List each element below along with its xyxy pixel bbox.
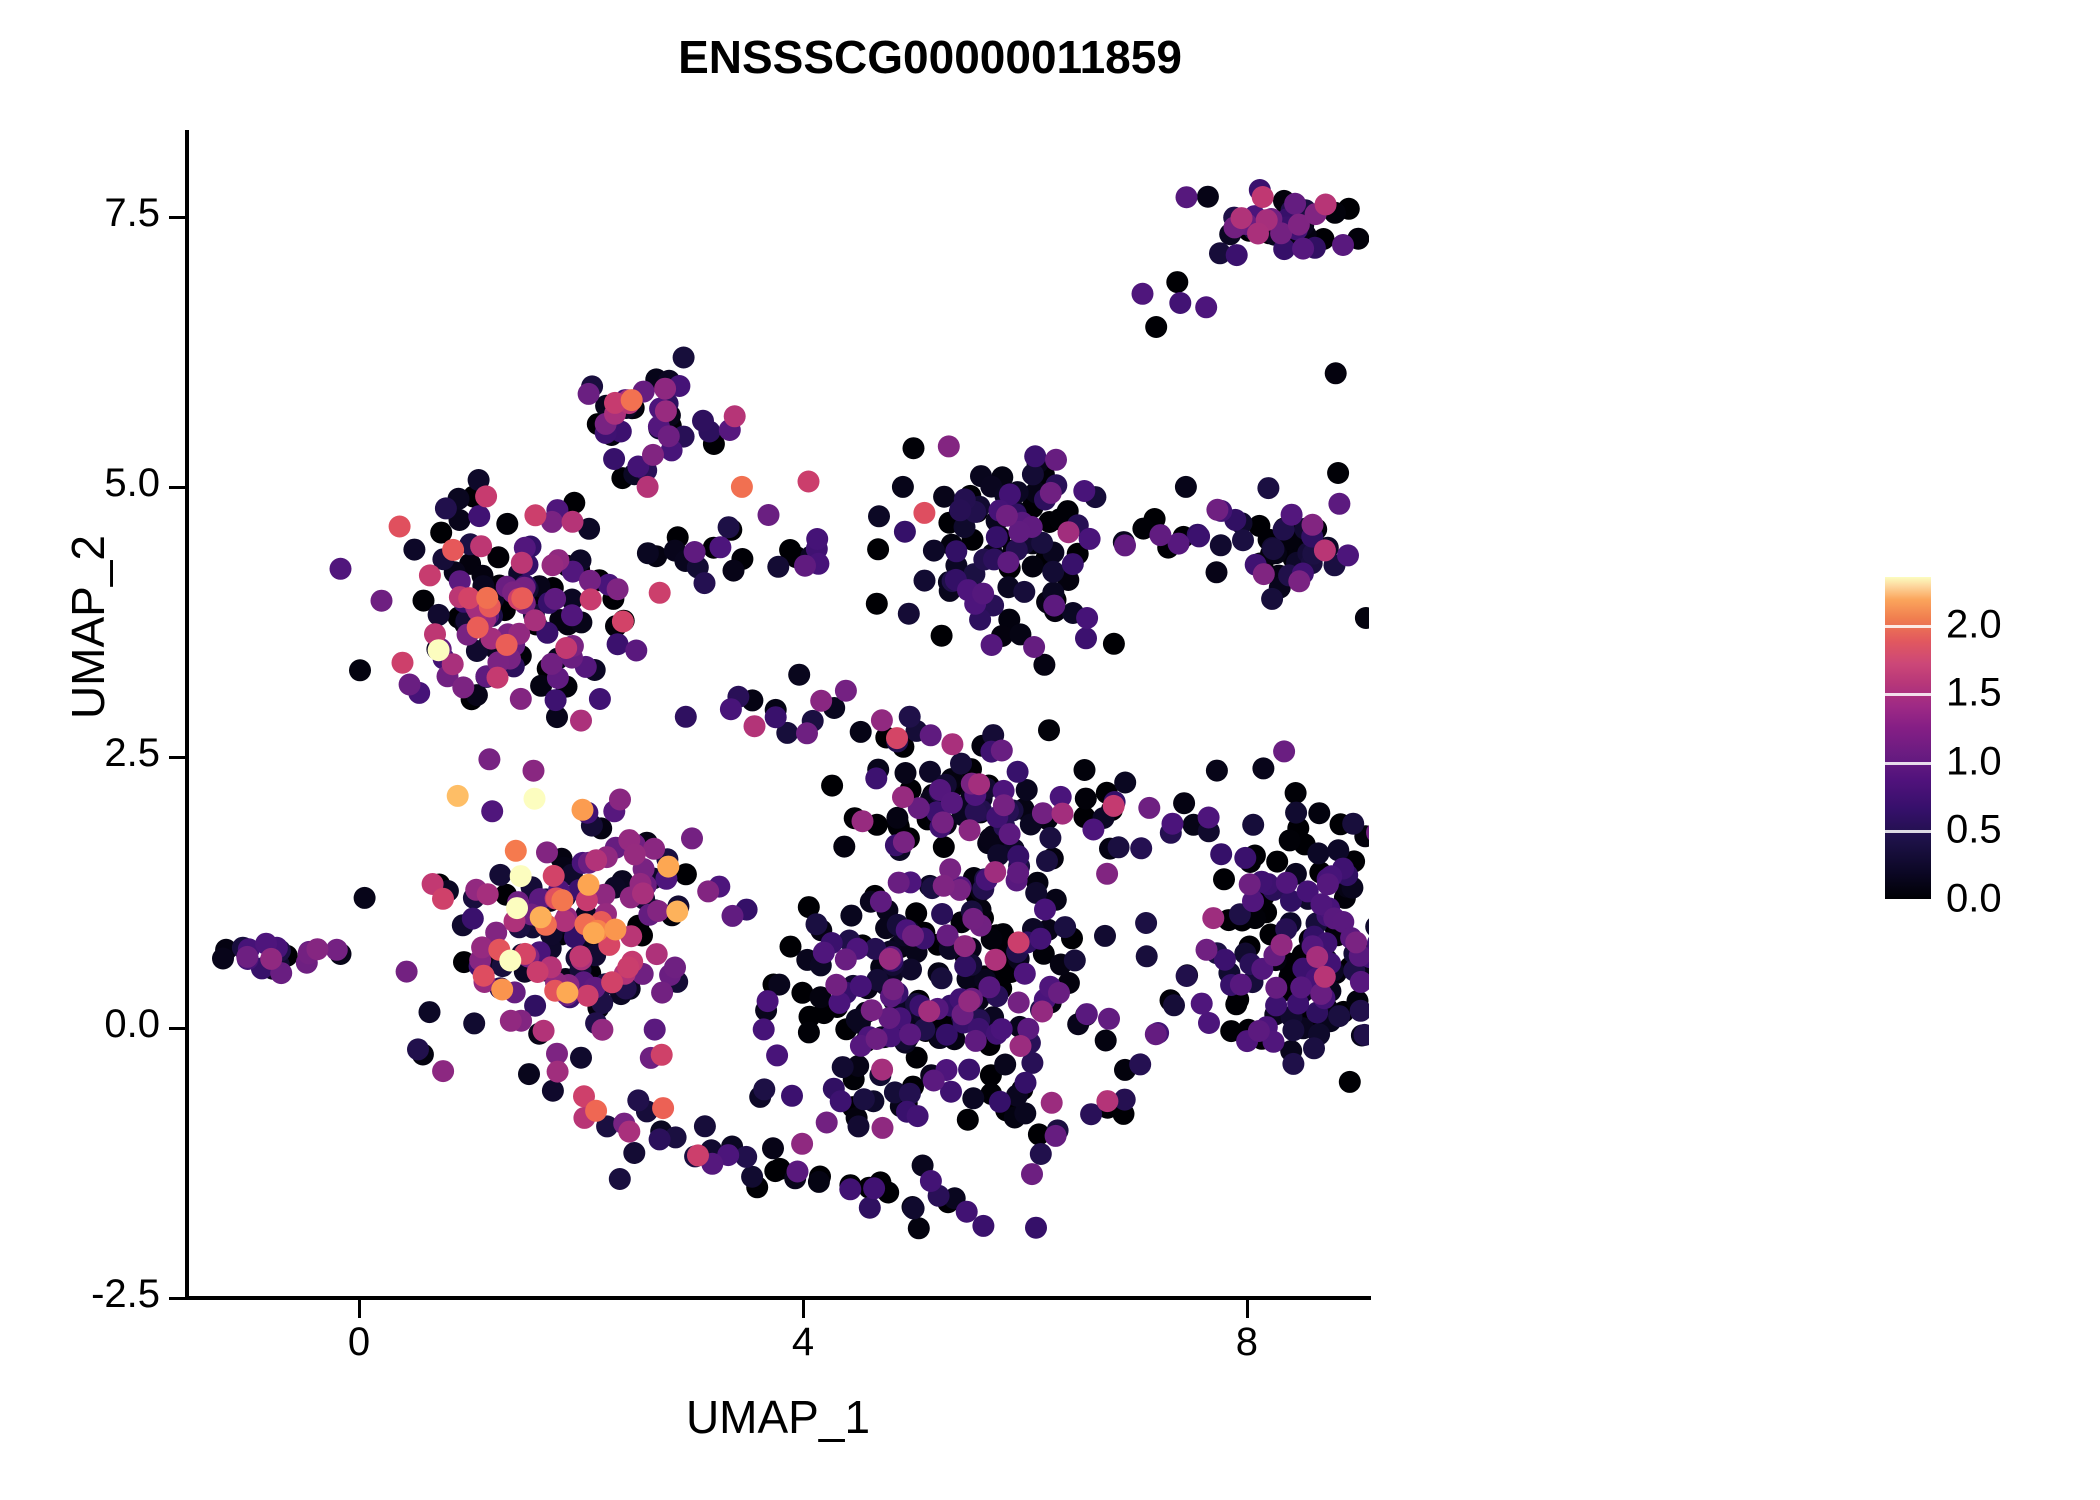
scatter-point bbox=[762, 1137, 784, 1159]
scatter-point bbox=[1032, 802, 1054, 824]
y-tick-mark bbox=[169, 756, 187, 759]
scatter-point bbox=[753, 1078, 775, 1100]
scatter-point bbox=[1045, 1125, 1067, 1147]
scatter-point bbox=[1281, 504, 1303, 526]
scatter-point bbox=[1332, 234, 1354, 256]
scatter-point bbox=[723, 560, 745, 582]
scatter-point bbox=[555, 637, 577, 659]
scatter-point bbox=[652, 1097, 674, 1119]
scatter-point bbox=[544, 588, 566, 610]
scatter-point bbox=[569, 945, 591, 967]
scatter-point bbox=[899, 1023, 921, 1045]
scatter-point bbox=[866, 1028, 888, 1050]
scatter-point bbox=[543, 865, 565, 887]
scatter-point bbox=[428, 604, 450, 626]
scatter-point bbox=[1022, 556, 1044, 578]
scatter-point bbox=[1239, 873, 1261, 895]
scatter-point bbox=[1195, 296, 1217, 318]
scatter-point bbox=[607, 633, 629, 655]
colorbar-tick-label: 0.0 bbox=[1946, 877, 2002, 922]
scatter-point bbox=[1285, 802, 1307, 824]
scatter-point bbox=[542, 554, 564, 576]
scatter-point bbox=[580, 588, 602, 610]
scatter-point bbox=[1045, 449, 1067, 471]
page-title: ENSSSCG00000011859 bbox=[0, 30, 2100, 84]
scatter-point bbox=[1284, 193, 1306, 215]
scatter-point bbox=[920, 1170, 942, 1192]
scatter-point bbox=[470, 535, 492, 557]
scatter-point bbox=[649, 1128, 671, 1150]
y-axis-title: UMAP_2 bbox=[61, 407, 115, 847]
scatter-point bbox=[1248, 1020, 1270, 1042]
scatter-point bbox=[813, 942, 835, 964]
colorbar-tick-label: 1.5 bbox=[1946, 671, 2002, 716]
scatter-point bbox=[675, 706, 697, 728]
y-tick-label: -2.5 bbox=[0, 1272, 160, 1317]
scatter-point bbox=[1149, 524, 1171, 546]
scatter-point bbox=[1317, 873, 1339, 895]
scatter-point bbox=[681, 827, 703, 849]
scatter-point bbox=[1231, 207, 1253, 229]
scatter-point bbox=[886, 807, 908, 829]
scatter-point bbox=[654, 378, 676, 400]
scatter-point bbox=[892, 476, 914, 498]
scatter-point bbox=[389, 516, 411, 538]
scatter-point bbox=[709, 536, 731, 558]
scatter-point bbox=[941, 733, 963, 755]
scatter-point bbox=[931, 625, 953, 647]
scatter-point bbox=[731, 476, 753, 498]
scatter-point bbox=[903, 1197, 925, 1219]
scatter-point bbox=[997, 551, 1019, 573]
scatter-point bbox=[861, 999, 883, 1021]
scatter-point bbox=[1176, 186, 1198, 208]
scatter-point bbox=[1339, 1071, 1361, 1093]
scatter-point bbox=[1279, 829, 1301, 851]
x-tick-mark bbox=[358, 1300, 361, 1318]
scatter-point bbox=[1041, 1092, 1063, 1114]
scatter-point bbox=[1166, 271, 1188, 293]
scatter-point bbox=[1129, 1053, 1151, 1075]
scatter-point bbox=[766, 1044, 788, 1066]
scatter-point bbox=[694, 572, 716, 594]
scatter-point bbox=[579, 570, 601, 592]
scatter-point bbox=[1007, 862, 1029, 884]
scatter-point bbox=[578, 874, 600, 896]
scatter-point bbox=[536, 841, 558, 863]
scatter-point bbox=[898, 603, 920, 625]
scatter-point bbox=[1042, 561, 1064, 583]
scatter-point bbox=[643, 838, 665, 860]
scatter-point bbox=[1226, 244, 1248, 266]
scatter-point bbox=[806, 528, 828, 550]
scatter-point bbox=[1252, 186, 1274, 208]
scatter-point bbox=[694, 1115, 716, 1137]
scatter-point bbox=[788, 664, 810, 686]
scatter-point bbox=[1303, 1037, 1325, 1059]
scatter-point bbox=[832, 1056, 854, 1078]
scatter-point bbox=[1173, 792, 1195, 814]
scatter-point bbox=[959, 819, 981, 841]
scatter-point bbox=[1314, 539, 1336, 561]
scatter-point bbox=[954, 955, 976, 977]
colorbar-tick-label: 2.0 bbox=[1946, 602, 2002, 647]
plot-panel bbox=[187, 130, 1369, 1298]
scatter-point bbox=[570, 710, 592, 732]
scatter-point bbox=[1023, 636, 1045, 658]
scatter-point bbox=[487, 667, 509, 689]
scatter-point bbox=[1308, 802, 1330, 824]
scatter-point bbox=[1076, 1003, 1098, 1025]
scatter-point bbox=[1342, 813, 1364, 835]
scatter-point bbox=[958, 1059, 980, 1081]
scatter-point bbox=[396, 961, 418, 983]
scatter-point bbox=[236, 946, 258, 968]
scatter-point bbox=[658, 425, 680, 447]
scatter-point bbox=[1306, 946, 1328, 968]
scatter-point bbox=[505, 840, 527, 862]
scatter-point bbox=[722, 905, 744, 927]
scatter-point bbox=[1075, 788, 1097, 810]
scatter-point bbox=[476, 587, 498, 609]
scatter-point bbox=[972, 583, 994, 605]
scatter-point bbox=[1039, 827, 1061, 849]
scatter-point bbox=[491, 979, 513, 1001]
scatter-point bbox=[583, 922, 605, 944]
scatter-point bbox=[868, 505, 890, 527]
scatter-point bbox=[1315, 194, 1337, 216]
scatter-point bbox=[993, 794, 1015, 816]
scatter-point bbox=[968, 773, 990, 795]
scatter-point bbox=[758, 504, 780, 526]
scatter-point bbox=[511, 552, 533, 574]
scatter-point bbox=[853, 1088, 875, 1110]
scatter-point bbox=[601, 971, 623, 993]
scatter-point bbox=[1021, 1163, 1043, 1185]
scatter-point bbox=[646, 943, 668, 965]
y-tick-label: 7.5 bbox=[0, 191, 160, 236]
scatter-point bbox=[888, 872, 910, 894]
scatter-point bbox=[1188, 525, 1210, 547]
scatter-point bbox=[941, 792, 963, 814]
scatter-point bbox=[618, 1121, 640, 1143]
scatter-point bbox=[477, 883, 499, 905]
scatter-point bbox=[664, 957, 686, 979]
scatter-point bbox=[692, 410, 714, 432]
scatter-point bbox=[1302, 514, 1324, 536]
scatter-point bbox=[1261, 588, 1283, 610]
scatter-point bbox=[882, 978, 904, 1000]
scatter-point bbox=[994, 1054, 1016, 1076]
scatter-point bbox=[1266, 851, 1288, 873]
scatter-point bbox=[435, 497, 457, 519]
scatter-point bbox=[1210, 534, 1232, 556]
scatter-point bbox=[1135, 912, 1157, 934]
colorbar-tick-mark bbox=[1885, 625, 1931, 628]
scatter-point bbox=[931, 967, 953, 989]
scatter-point bbox=[623, 1142, 645, 1164]
scatter-point bbox=[399, 674, 421, 696]
scatter-point bbox=[866, 593, 888, 615]
scatter-point bbox=[687, 1144, 709, 1166]
scatter-point bbox=[432, 888, 454, 910]
colorbar-tick-mark bbox=[1885, 762, 1931, 765]
scatter-point bbox=[765, 706, 787, 728]
scatter-point bbox=[871, 709, 893, 731]
scatter-point bbox=[1082, 819, 1104, 841]
scatter-point bbox=[655, 400, 677, 422]
scatter-point bbox=[1103, 795, 1125, 817]
scatter-point bbox=[1197, 186, 1219, 208]
scatter-point bbox=[949, 499, 971, 521]
scatter-point bbox=[852, 810, 874, 832]
scatter-point bbox=[879, 948, 901, 970]
scatter-point bbox=[886, 727, 908, 749]
scatter-point bbox=[428, 639, 450, 661]
scatter-point bbox=[950, 753, 972, 775]
scatter-point bbox=[781, 1085, 803, 1107]
scatter-point bbox=[1292, 238, 1314, 260]
scatter-point bbox=[870, 891, 892, 913]
scatter-point bbox=[1052, 803, 1074, 825]
scatter-point bbox=[371, 590, 393, 612]
scatter-point bbox=[1196, 939, 1218, 961]
scatter-point bbox=[419, 1001, 441, 1023]
scatter-point bbox=[1024, 445, 1046, 467]
scatter-point bbox=[989, 1091, 1011, 1113]
colorbar-tick-mark bbox=[1885, 693, 1931, 696]
scatter-point bbox=[1232, 529, 1254, 551]
scatter-point bbox=[1282, 1019, 1304, 1041]
scatter-point bbox=[798, 471, 820, 493]
scatter-point bbox=[533, 1020, 555, 1042]
scatter-point bbox=[991, 740, 1013, 762]
scatter-point bbox=[481, 800, 503, 822]
scatter-point bbox=[524, 504, 546, 526]
scatter-point bbox=[1175, 476, 1197, 498]
scatter-point bbox=[794, 555, 816, 577]
scatter-point bbox=[903, 437, 925, 459]
scatter-point bbox=[617, 956, 639, 978]
scatter-point bbox=[962, 1087, 984, 1109]
y-tick-label: 0.0 bbox=[0, 1002, 160, 1047]
scatter-point bbox=[1075, 627, 1097, 649]
scatter-point bbox=[1058, 521, 1080, 543]
scatter-point bbox=[349, 659, 371, 681]
scatter-point bbox=[1271, 934, 1293, 956]
scatter-point bbox=[589, 688, 611, 710]
scatter-point bbox=[1103, 633, 1125, 655]
scatter-point bbox=[1265, 977, 1287, 999]
scatter-point bbox=[607, 578, 629, 600]
scatter-point bbox=[510, 865, 532, 887]
scatter-point bbox=[1325, 362, 1347, 384]
scatter-point bbox=[907, 1105, 929, 1127]
scatter-point bbox=[996, 505, 1018, 527]
scatter-point bbox=[1054, 916, 1076, 938]
scatter-point bbox=[407, 1038, 429, 1060]
scatter-point bbox=[1253, 563, 1275, 585]
scatter-point bbox=[821, 775, 843, 797]
scatter-point bbox=[604, 919, 626, 941]
scatter-point bbox=[1098, 1008, 1120, 1030]
scatter-point bbox=[1079, 528, 1101, 550]
scatter-point bbox=[757, 990, 779, 1012]
scatter-point bbox=[899, 706, 921, 728]
scatter-point bbox=[1038, 719, 1060, 741]
scatter-point bbox=[657, 856, 679, 878]
scatter-point bbox=[1210, 843, 1232, 865]
scatter-point bbox=[1242, 814, 1264, 836]
scatter-point bbox=[1307, 842, 1329, 864]
scatter-point bbox=[478, 748, 500, 770]
scatter-point bbox=[972, 1215, 994, 1237]
scatter-point bbox=[850, 721, 872, 743]
x-tick-mark bbox=[1246, 1300, 1249, 1318]
scatter-point bbox=[1130, 837, 1152, 859]
scatter-point bbox=[1031, 1001, 1053, 1023]
scatter-point bbox=[609, 1168, 631, 1190]
scatter-points-layer bbox=[187, 130, 1369, 1298]
scatter-point bbox=[991, 1018, 1013, 1040]
scatter-point bbox=[603, 448, 625, 470]
scatter-point bbox=[1138, 797, 1160, 819]
colorbar-legend: 0.00.51.01.52.0 bbox=[1880, 570, 2080, 910]
scatter-point bbox=[1345, 931, 1367, 953]
y-tick-mark bbox=[169, 1027, 187, 1030]
scatter-point bbox=[1191, 993, 1213, 1015]
scatter-point bbox=[473, 965, 495, 987]
scatter-point bbox=[467, 617, 489, 639]
scatter-point bbox=[642, 444, 664, 466]
scatter-point bbox=[624, 843, 646, 865]
scatter-point bbox=[1327, 462, 1349, 484]
scatter-point bbox=[938, 435, 960, 457]
x-tick-label: 8 bbox=[1207, 1320, 1287, 1365]
scatter-point bbox=[1073, 480, 1095, 502]
scatter-point bbox=[902, 925, 924, 947]
scatter-point bbox=[1145, 316, 1167, 338]
scatter-point bbox=[523, 760, 545, 782]
scatter-point bbox=[651, 982, 673, 1004]
scatter-point bbox=[808, 1171, 830, 1193]
scatter-point bbox=[577, 985, 599, 1007]
scatter-point bbox=[518, 1063, 540, 1085]
scatter-point bbox=[510, 688, 532, 710]
scatter-point bbox=[1365, 916, 1369, 938]
scatter-point bbox=[720, 698, 742, 720]
scatter-point bbox=[1198, 1012, 1220, 1034]
scatter-point bbox=[1355, 607, 1369, 629]
scatter-point bbox=[354, 887, 376, 909]
scatter-point bbox=[651, 1044, 673, 1066]
colorbar-tick-mark bbox=[1885, 899, 1931, 902]
scatter-point bbox=[867, 538, 889, 560]
scatter-point bbox=[637, 476, 659, 498]
scatter-point bbox=[1132, 283, 1154, 305]
scatter-point bbox=[1206, 561, 1228, 583]
scatter-point bbox=[666, 901, 688, 923]
scatter-point bbox=[330, 558, 352, 580]
scatter-point bbox=[1034, 899, 1056, 921]
scatter-point bbox=[612, 611, 634, 633]
scatter-point bbox=[462, 908, 484, 930]
scatter-point bbox=[506, 897, 528, 919]
x-tick-mark bbox=[802, 1300, 805, 1318]
scatter-point bbox=[923, 540, 945, 562]
scatter-point bbox=[914, 570, 936, 592]
scatter-point bbox=[918, 1000, 940, 1022]
scatter-point bbox=[893, 831, 915, 853]
scatter-point bbox=[1162, 813, 1184, 835]
scatter-point bbox=[1094, 925, 1116, 947]
scatter-point bbox=[965, 1030, 987, 1052]
scatter-point bbox=[570, 1047, 592, 1069]
scatter-point bbox=[718, 516, 740, 538]
scatter-point bbox=[649, 582, 671, 604]
colorbar-tick-mark bbox=[1885, 830, 1931, 833]
scatter-point bbox=[452, 676, 474, 698]
x-tick-label: 4 bbox=[763, 1320, 843, 1365]
scatter-point bbox=[554, 910, 576, 932]
scatter-point bbox=[835, 948, 857, 970]
scatter-point bbox=[894, 521, 916, 543]
scatter-point bbox=[591, 1019, 613, 1041]
scatter-point bbox=[1014, 963, 1036, 985]
scatter-point bbox=[1328, 493, 1350, 515]
scatter-point bbox=[496, 634, 518, 656]
scatter-point bbox=[816, 1112, 838, 1134]
scatter-point bbox=[1096, 1090, 1118, 1112]
scatter-point bbox=[957, 1109, 979, 1131]
scatter-point bbox=[1036, 850, 1058, 872]
scatter-point bbox=[787, 1161, 809, 1183]
scatter-point bbox=[1288, 570, 1310, 592]
scatter-point bbox=[863, 1177, 885, 1199]
scatter-point bbox=[835, 680, 857, 702]
scatter-point bbox=[913, 502, 935, 524]
scatter-point bbox=[306, 938, 328, 960]
scatter-point bbox=[326, 939, 348, 961]
scatter-point bbox=[986, 526, 1008, 548]
scatter-point bbox=[627, 1089, 649, 1111]
scatter-point bbox=[954, 935, 976, 957]
scatter-point bbox=[1263, 538, 1285, 560]
scatter-point bbox=[1290, 976, 1312, 998]
scatter-point bbox=[1074, 759, 1096, 781]
umap-scatter-figure: ENSSSCG00000011859 -2.50.02.55.07.5 048 … bbox=[0, 0, 2100, 1500]
scatter-point bbox=[958, 990, 980, 1012]
scatter-point bbox=[609, 789, 631, 811]
scatter-point bbox=[585, 1100, 607, 1122]
scatter-point bbox=[933, 836, 955, 858]
scatter-point bbox=[741, 1166, 763, 1188]
scatter-point bbox=[527, 961, 549, 983]
scatter-point bbox=[419, 564, 441, 586]
scatter-point bbox=[637, 542, 659, 564]
scatter-point bbox=[475, 485, 497, 507]
scatter-point bbox=[1114, 772, 1136, 794]
scatter-point bbox=[1230, 974, 1252, 996]
scatter-point bbox=[260, 948, 282, 970]
scatter-point bbox=[923, 1070, 945, 1092]
scatter-point bbox=[1202, 907, 1224, 929]
scatter-point bbox=[962, 908, 984, 930]
scatter-point bbox=[1206, 760, 1228, 782]
scatter-point bbox=[392, 652, 414, 674]
scatter-point bbox=[1010, 1035, 1032, 1057]
scatter-point bbox=[825, 974, 847, 996]
